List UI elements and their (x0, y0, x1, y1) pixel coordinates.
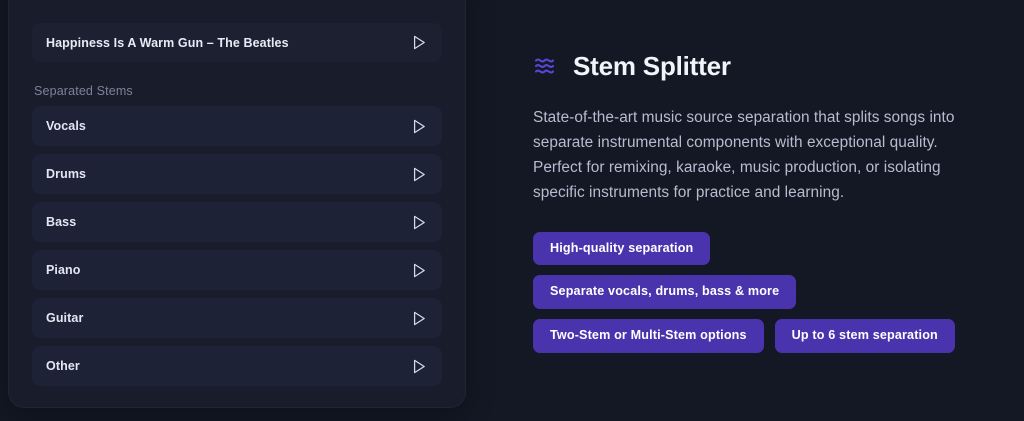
stem-label: Vocals (46, 119, 86, 133)
left-column: Happiness Is A Warm Gun – The Beatles Se… (0, 0, 492, 421)
stem-label: Bass (46, 215, 76, 229)
list-item[interactable]: Drums (32, 154, 442, 194)
list-item[interactable]: Guitar (32, 298, 442, 338)
page-title: Stem Splitter (573, 53, 731, 79)
play-triangle-outline-icon[interactable] (410, 357, 428, 375)
play-triangle-outline-icon[interactable] (410, 117, 428, 135)
feature-badge-list: High-quality separation Separate vocals,… (533, 232, 984, 353)
feature-description: State-of-the-art music source separation… (533, 106, 983, 206)
list-item[interactable]: Other (32, 346, 442, 386)
play-triangle-outline-icon[interactable] (410, 165, 428, 183)
stem-label: Other (46, 359, 80, 373)
play-triangle-outline-icon[interactable] (410, 309, 428, 327)
list-item[interactable]: Piano (32, 250, 442, 290)
right-column: Stem Splitter State-of-the-art music sou… (492, 0, 1024, 421)
current-track-row[interactable]: Happiness Is A Warm Gun – The Beatles (32, 23, 442, 62)
stem-list: Vocals Drums Bas (32, 106, 442, 386)
list-item[interactable]: Vocals (32, 106, 442, 146)
list-item[interactable]: Bass (32, 202, 442, 242)
current-track-label: Happiness Is A Warm Gun – The Beatles (46, 36, 289, 50)
stem-label: Drums (46, 167, 86, 181)
play-triangle-outline-icon[interactable] (410, 34, 428, 52)
play-triangle-outline-icon[interactable] (410, 213, 428, 231)
status-badge: High-quality separation (533, 232, 710, 266)
play-triangle-outline-icon[interactable] (410, 261, 428, 279)
separated-stems-label: Separated Stems (32, 84, 442, 98)
status-badge: Two-Stem or Multi-Stem options (533, 319, 764, 353)
status-badge: Separate vocals, drums, bass & more (533, 275, 796, 309)
status-badge: Up to 6 stem separation (775, 319, 955, 353)
stem-splitter-screen: Happiness Is A Warm Gun – The Beatles Se… (0, 0, 1024, 421)
page-header: Stem Splitter (533, 53, 984, 79)
stems-panel: Happiness Is A Warm Gun – The Beatles Se… (8, 0, 466, 408)
stem-label: Piano (46, 263, 81, 277)
audio-waves-icon (533, 55, 559, 77)
stem-label: Guitar (46, 311, 83, 325)
